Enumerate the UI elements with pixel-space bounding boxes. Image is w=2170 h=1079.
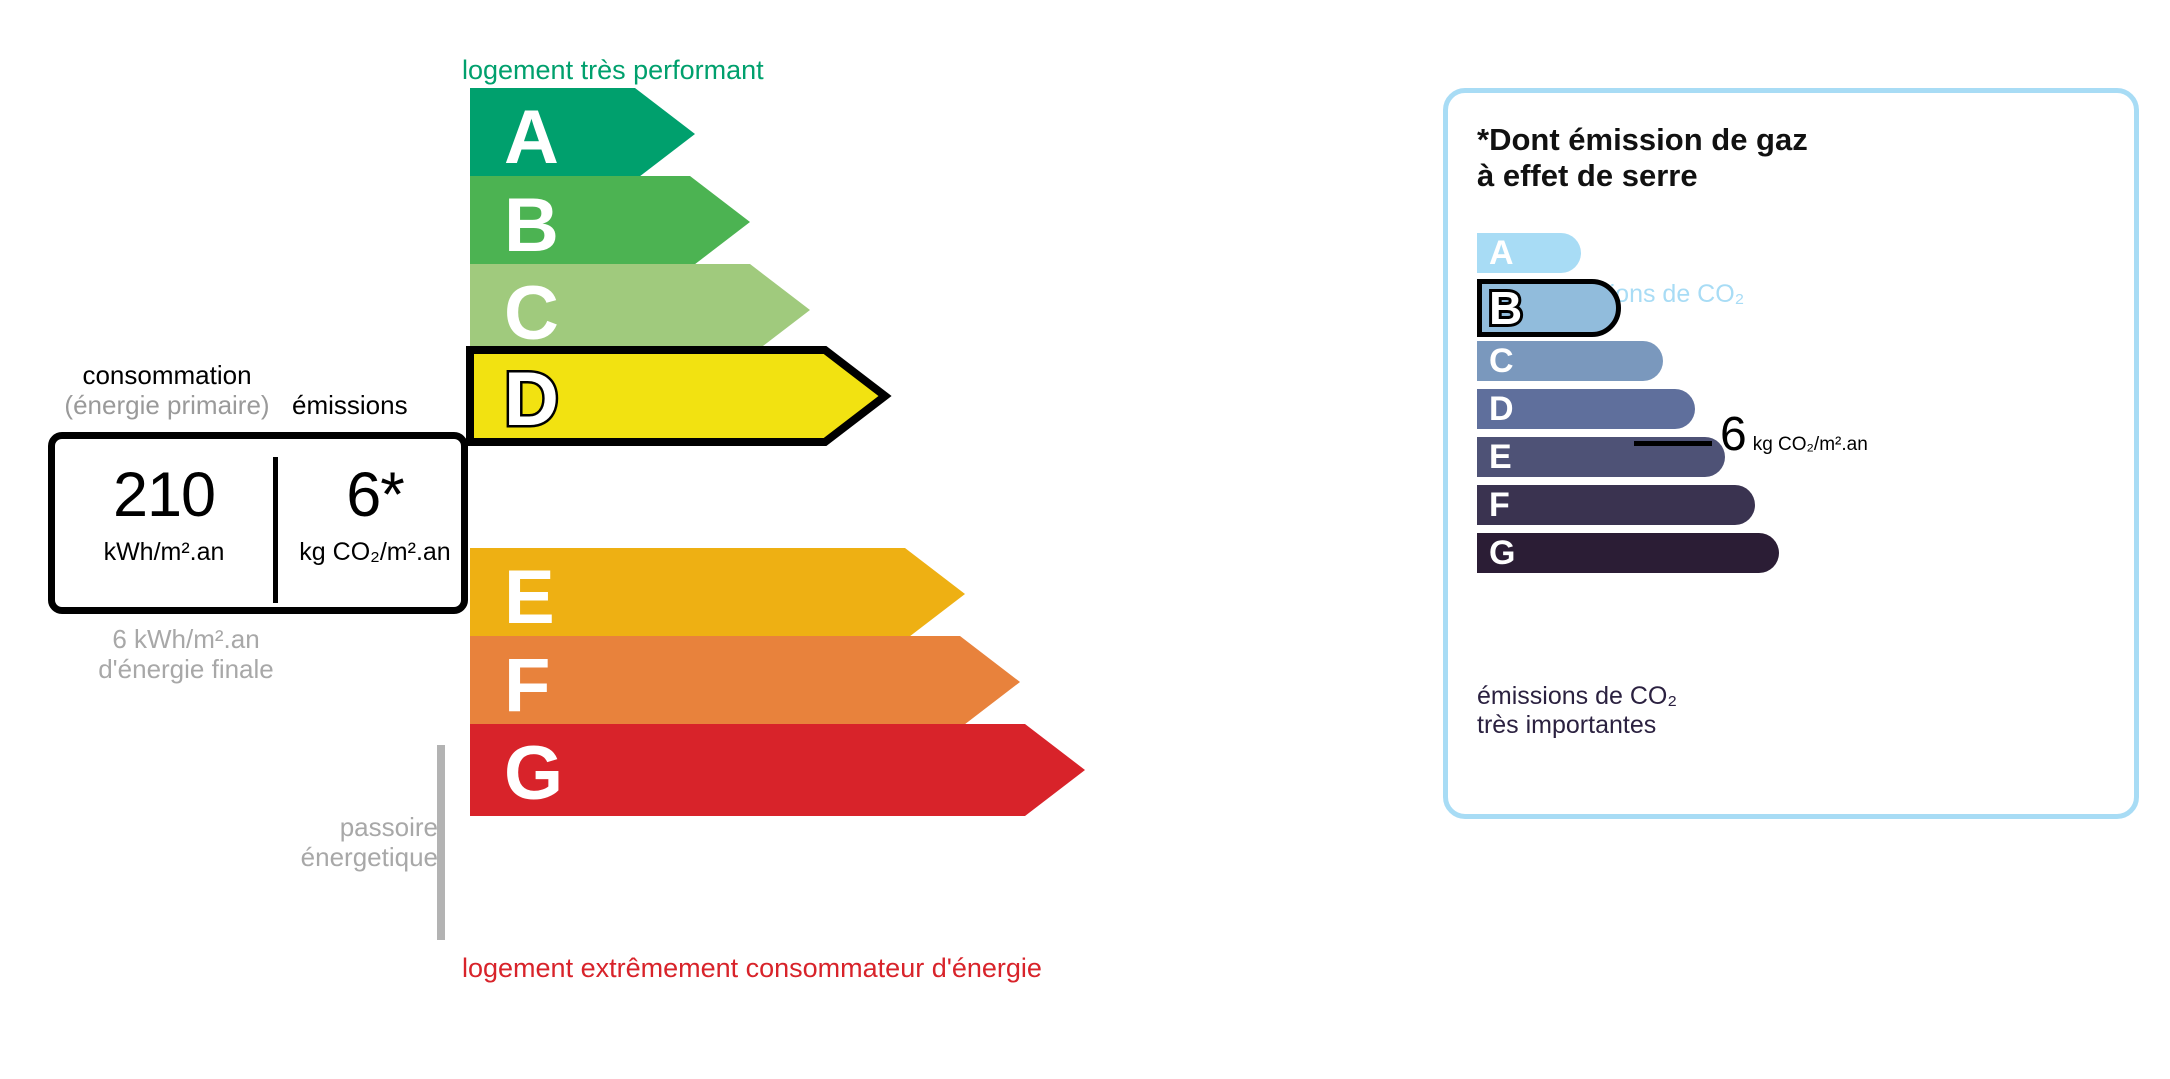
co2-class-letter-e: E — [1489, 440, 1512, 474]
co2-bottom-caption: émissions de CO₂ très importantes — [1477, 682, 1677, 740]
consumption-label-main: consommation — [82, 360, 251, 390]
co2-callout-line — [1634, 441, 1712, 446]
co2-panel-title: *Dont émission de gaz à effet de serre — [1477, 122, 1808, 194]
consumption-label: consommation (énergie primaire) — [52, 360, 282, 420]
co2-class-row-a: A — [1477, 233, 1581, 273]
co2-callout-value-number: 6 — [1720, 408, 1747, 461]
energy-class-row-b: B — [462, 168, 762, 260]
energy-class-row-f: F — [462, 628, 1032, 720]
value-box-divider — [273, 457, 278, 603]
passoire-line-2: énergetique — [301, 842, 438, 872]
emission-unit: kg CO₂/m².an — [281, 537, 469, 567]
final-energy-line-1: 6 kWh/m².an — [112, 624, 259, 654]
passoire-energetique-bar — [437, 745, 445, 940]
energy-class-row-a: A — [462, 80, 707, 172]
emission-value: 6* — [281, 457, 469, 533]
co2-class-letter-f: F — [1489, 488, 1510, 522]
co2-emissions-panel: *Dont émission de gaz à effet de serre p… — [1443, 88, 2139, 819]
final-energy-line-2: d'énergie finale — [98, 654, 274, 684]
energy-arrow-shape-d — [462, 342, 897, 450]
co2-callout: 6kg CO₂/m².an — [1720, 411, 1868, 459]
emissions-label: émissions — [292, 390, 408, 420]
co2-class-row-c: C — [1477, 341, 1663, 381]
co2-class-letter-c: C — [1489, 344, 1514, 378]
co2-class-letter-d: D — [1489, 392, 1514, 426]
consumption-value: 210 — [59, 457, 269, 533]
co2-bar-f — [1477, 485, 1755, 525]
energy-class-row-c: C — [462, 256, 822, 348]
co2-class-row-f: F — [1477, 485, 1755, 525]
energy-arrow-shape-g — [462, 716, 1097, 824]
consumption-value-cell: 210 kWh/m².an — [59, 457, 269, 567]
emission-value-cell: 6* kg CO₂/m².an — [281, 457, 469, 567]
passoire-energetique-label: passoire énergetique — [208, 812, 438, 872]
co2-class-letter-b: B — [1489, 285, 1522, 331]
co2-class-row-b: B — [1477, 279, 1621, 337]
co2-class-row-d: D — [1477, 389, 1695, 429]
co2-callout-unit: kg CO₂/m².an — [1753, 434, 1868, 455]
energy-class-row-d: D — [462, 342, 897, 434]
consumption-label-sub: (énergie primaire) — [64, 390, 269, 420]
energy-class-row-e: E — [462, 540, 977, 632]
co2-class-letter-a: A — [1489, 236, 1514, 270]
energy-class-row-g: G — [462, 716, 1097, 808]
energy-bottom-caption: logement extrêmement consommateur d'éner… — [462, 953, 1042, 984]
passoire-line-1: passoire — [340, 812, 438, 842]
energy-value-box: 210 kWh/m².an 6* kg CO₂/m².an — [48, 432, 468, 614]
co2-class-row-g: G — [1477, 533, 1779, 573]
co2-bar-g — [1477, 533, 1779, 573]
energy-performance-chart: logement très performant ABCDEFG passoir… — [0, 0, 1400, 1079]
final-energy-note: 6 kWh/m².an d'énergie finale — [48, 624, 324, 684]
co2-class-letter-g: G — [1489, 536, 1515, 570]
consumption-unit: kWh/m².an — [59, 537, 269, 567]
